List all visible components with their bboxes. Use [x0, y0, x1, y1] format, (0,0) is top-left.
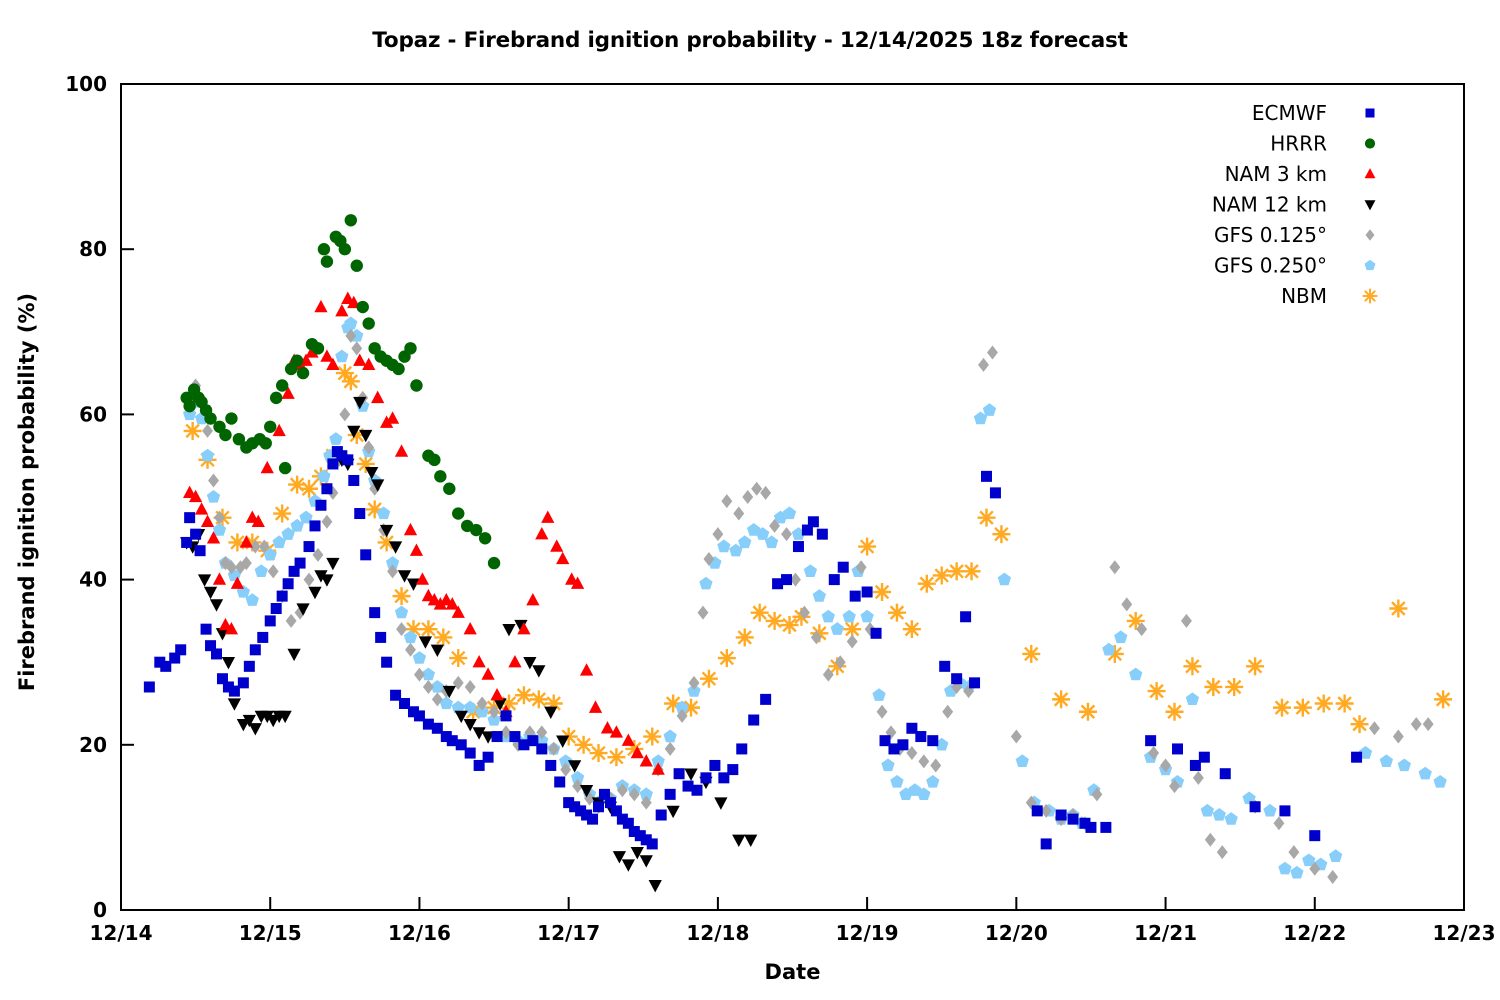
data-point-circle: [260, 437, 272, 449]
x-axis-tick-label: 12/23: [1433, 921, 1496, 945]
data-point-pentagon: [344, 317, 357, 330]
data-point-circle: [318, 243, 330, 255]
data-point-pentagon: [717, 540, 730, 553]
data-point-asterisk: [419, 620, 437, 638]
data-point-pentagon: [1290, 866, 1303, 879]
data-point-pentagon: [872, 688, 885, 701]
data-point-circle: [488, 557, 500, 569]
data-point-triangle-down: [210, 599, 223, 611]
data-point-circle: [345, 214, 357, 226]
data-point-pentagon: [1433, 775, 1446, 788]
data-point-circle: [443, 483, 455, 495]
data-point-square: [201, 624, 212, 635]
x-axis-tick-label: 12/22: [1283, 921, 1346, 945]
legend-marker-3: [1365, 168, 1376, 178]
data-point-diamond: [304, 573, 315, 587]
data-point-asterisk: [873, 583, 891, 601]
legend-label-7: NBM: [1281, 284, 1327, 308]
data-point-diamond: [1423, 717, 1434, 731]
data-point-triangle-up: [589, 700, 602, 712]
data-point-square: [175, 644, 186, 655]
data-point-square: [1145, 735, 1156, 746]
data-point-diamond: [1411, 717, 1422, 731]
data-point-circle: [321, 255, 333, 267]
x-axis-tick-label: 12/17: [537, 921, 600, 945]
data-point-triangle-up: [601, 721, 614, 733]
data-point-triangle-up: [353, 354, 366, 366]
data-point-diamond: [423, 680, 434, 694]
data-point-triangle-down: [714, 797, 727, 809]
y-axis-tick-label: 0: [93, 898, 107, 922]
data-point-diamond: [760, 486, 771, 500]
data-point-square: [238, 677, 249, 688]
data-point-diamond: [1393, 730, 1404, 744]
data-point-asterisk: [1079, 703, 1097, 721]
data-point-square: [381, 657, 392, 668]
data-point-asterisk: [643, 728, 661, 746]
data-point-square: [709, 760, 720, 771]
data-point-asterisk: [751, 604, 769, 622]
data-point-triangle-up: [526, 593, 539, 605]
data-point-pentagon: [1225, 812, 1238, 825]
data-point-square: [647, 838, 658, 849]
data-point-circle: [312, 342, 324, 354]
data-point-circle: [279, 462, 291, 474]
data-point-triangle-up: [508, 655, 521, 667]
data-point-square: [727, 764, 738, 775]
data-point-asterisk: [903, 620, 921, 638]
data-point-asterisk: [1148, 682, 1166, 700]
data-point-square: [211, 648, 222, 659]
data-point-asterisk: [933, 566, 951, 584]
data-point-square: [981, 471, 992, 482]
series-nbm: [184, 364, 1452, 766]
data-point-triangle-up: [580, 663, 593, 675]
data-point-square: [927, 735, 938, 746]
data-point-circle: [357, 301, 369, 313]
data-point-square: [1309, 830, 1320, 841]
data-point-diamond: [987, 345, 998, 359]
data-point-asterisk: [1183, 657, 1201, 675]
data-point-square: [1032, 805, 1043, 816]
data-point-triangle-up: [490, 688, 503, 700]
data-point-triangle-down: [649, 880, 662, 892]
data-point-pentagon: [207, 490, 220, 503]
data-point-asterisk: [1166, 703, 1184, 721]
data-point-triangle-down: [320, 574, 333, 586]
data-point-triangle-down: [249, 723, 262, 735]
data-point-diamond: [1288, 845, 1299, 859]
data-point-triangle-down: [287, 649, 300, 661]
data-point-square: [257, 632, 268, 643]
data-point-asterisk: [273, 505, 291, 523]
data-point-square: [829, 574, 840, 585]
data-point-pentagon: [1380, 754, 1393, 767]
data-point-pentagon: [1201, 804, 1214, 817]
data-point-triangle-down: [666, 806, 679, 818]
data-point-square: [1351, 752, 1362, 763]
data-point-asterisk: [342, 372, 360, 390]
data-point-asterisk: [781, 616, 799, 634]
series-hrrr: [180, 214, 500, 569]
data-point-diamond: [742, 490, 753, 504]
data-point-square: [838, 562, 849, 573]
data-point-square: [990, 487, 1001, 498]
data-point-asterisk: [1389, 600, 1407, 618]
data-point-square: [1199, 752, 1210, 763]
data-point-square: [465, 748, 476, 759]
data-point-pentagon: [1398, 758, 1411, 771]
data-point-diamond: [665, 742, 676, 756]
data-point-square: [781, 574, 792, 585]
legend-marker-6: [1365, 260, 1376, 270]
data-point-square: [691, 785, 702, 796]
legend-label-5: GFS 0.125°: [1214, 223, 1327, 247]
x-axis-tick-label: 12/16: [388, 921, 451, 945]
data-point-circle: [291, 355, 303, 367]
data-point-diamond: [1193, 771, 1204, 785]
data-point-pentagon: [998, 573, 1011, 586]
data-point-diamond: [351, 341, 362, 355]
data-point-diamond: [712, 527, 723, 541]
data-point-triangle-up: [395, 444, 408, 456]
data-point-asterisk: [434, 628, 452, 646]
data-point-diamond: [918, 754, 929, 768]
data-point-diamond: [321, 515, 332, 529]
data-point-circle: [351, 260, 363, 272]
data-point-pentagon: [317, 469, 330, 482]
data-point-pentagon: [822, 610, 835, 623]
data-point-triangle-up: [201, 515, 214, 527]
data-point-circle: [410, 379, 422, 391]
data-point-diamond: [414, 668, 425, 682]
data-point-diamond: [396, 622, 407, 636]
data-point-square: [951, 673, 962, 684]
data-point-circle: [428, 454, 440, 466]
data-point-square: [315, 500, 326, 511]
data-point-diamond: [286, 614, 297, 628]
data-point-square: [321, 483, 332, 494]
series-ecmwf: [144, 446, 1362, 849]
data-point-pentagon: [329, 432, 342, 445]
data-point-circle: [219, 429, 231, 441]
legend: ECMWFHRRRNAM 3 kmNAM 12 kmGFS 0.125°GFS …: [1212, 101, 1378, 308]
legend-marker-2: [1365, 138, 1375, 148]
data-point-pentagon: [201, 449, 214, 462]
data-point-triangle-down: [204, 587, 217, 599]
data-point-pentagon: [1186, 692, 1199, 705]
data-point-triangle-up: [371, 391, 384, 403]
data-point-asterisk: [1225, 678, 1243, 696]
data-point-circle: [339, 243, 351, 255]
data-point-circle: [297, 367, 309, 379]
data-point-square: [960, 611, 971, 622]
data-point-pentagon: [1129, 668, 1142, 681]
data-point-square: [554, 776, 565, 787]
data-point-triangle-up: [622, 733, 635, 745]
data-point-asterisk: [700, 670, 718, 688]
data-point-diamond: [930, 758, 941, 772]
data-point-diamond: [698, 606, 709, 620]
data-point-triangle-down: [419, 636, 432, 648]
x-axis-tick-label: 12/18: [686, 921, 749, 945]
data-point-triangle-down: [532, 665, 545, 677]
data-point-diamond: [1121, 597, 1132, 611]
data-point-square: [656, 810, 667, 821]
data-point-triangle-down: [684, 769, 697, 781]
data-point-square: [1172, 743, 1183, 754]
data-point-square: [309, 520, 320, 531]
y-axis-tick-label: 100: [65, 72, 107, 96]
legend-label-2: HRRR: [1270, 132, 1327, 156]
data-point-diamond: [208, 473, 219, 487]
data-point-pentagon: [1016, 754, 1029, 767]
data-point-asterisk: [184, 422, 202, 440]
data-point-square: [1220, 768, 1231, 779]
data-point-pentagon: [663, 730, 676, 743]
data-point-pentagon: [890, 775, 903, 788]
data-point-asterisk: [1052, 690, 1070, 708]
legend-label-3: NAM 3 km: [1225, 162, 1327, 186]
data-point-pentagon: [881, 758, 894, 771]
data-point-triangle-up: [550, 539, 563, 551]
data-point-pentagon: [983, 403, 996, 416]
legend-marker-5: [1366, 229, 1375, 240]
data-point-square: [190, 529, 201, 540]
data-point-triangle-up: [213, 572, 226, 584]
data-point-diamond: [781, 527, 792, 541]
data-point-square: [1100, 822, 1111, 833]
data-point-asterisk: [858, 538, 876, 556]
data-point-asterisk: [1294, 699, 1312, 717]
data-point-pentagon: [831, 622, 844, 635]
data-point-asterisk: [766, 612, 784, 630]
data-point-triangle-down: [198, 574, 211, 586]
data-point-triangle-down: [326, 558, 339, 570]
data-point-square: [304, 541, 315, 552]
legend-label-6: GFS 0.250°: [1214, 254, 1327, 278]
data-point-asterisk: [1273, 699, 1291, 717]
data-point-circle: [270, 392, 282, 404]
data-point-asterisk: [530, 690, 548, 708]
data-point-square: [1056, 810, 1067, 821]
data-point-pentagon: [804, 564, 817, 577]
data-point-pentagon: [1329, 849, 1342, 862]
data-point-diamond: [877, 705, 888, 719]
data-point-square: [817, 529, 828, 540]
data-point-square: [808, 516, 819, 527]
data-point-triangle-up: [481, 667, 494, 679]
data-point-asterisk: [575, 736, 593, 754]
data-point-square: [369, 607, 380, 618]
data-point-triangle-down: [502, 624, 515, 636]
data-point-circle: [276, 379, 288, 391]
data-point-square: [250, 644, 261, 655]
data-point-pentagon: [335, 350, 348, 363]
series-nam-3-km: [183, 292, 665, 775]
data-point-square: [295, 558, 306, 569]
x-axis-tick-label: 12/15: [239, 921, 302, 945]
data-point-asterisk: [736, 628, 754, 646]
data-point-asterisk: [607, 748, 625, 766]
data-point-asterisk: [963, 562, 981, 580]
data-point-diamond: [405, 643, 416, 657]
legend-marker-7: [1363, 289, 1378, 304]
data-point-asterisk: [1434, 690, 1452, 708]
data-point-square: [271, 603, 282, 614]
data-point-asterisk: [1351, 715, 1369, 733]
data-point-circle: [434, 470, 446, 482]
data-point-square: [144, 681, 155, 692]
data-point-diamond: [1327, 870, 1338, 884]
data-point-triangle-down: [732, 835, 745, 847]
data-point-square: [545, 760, 556, 771]
data-point-triangle-down: [640, 855, 653, 867]
data-point-square: [665, 789, 676, 800]
data-point-square: [593, 801, 604, 812]
data-point-square: [674, 768, 685, 779]
data-point-asterisk: [977, 509, 995, 527]
data-point-square: [587, 814, 598, 825]
data-point-asterisk: [1022, 645, 1040, 663]
data-point-diamond: [847, 635, 858, 649]
data-point-asterisk: [515, 686, 533, 704]
data-point-triangle-down: [744, 835, 757, 847]
data-point-square: [915, 731, 926, 742]
data-point-pentagon: [1419, 767, 1432, 780]
data-point-square: [1068, 814, 1079, 825]
data-point-triangle-up: [556, 552, 569, 564]
data-point-asterisk: [1246, 657, 1264, 675]
data-point-triangle-up: [195, 502, 208, 514]
y-axis-tick-label: 20: [79, 733, 107, 757]
data-point-diamond: [1369, 721, 1380, 735]
data-point-square: [748, 715, 759, 726]
data-point-diamond: [1217, 845, 1228, 859]
data-point-square: [871, 628, 882, 639]
data-point-square: [736, 743, 747, 754]
data-point-pentagon: [1278, 862, 1291, 875]
data-point-triangle-up: [314, 300, 327, 312]
data-point-square: [939, 661, 950, 672]
data-point-square: [360, 549, 371, 560]
data-point-circle: [225, 412, 237, 424]
data-point-diamond: [721, 494, 732, 508]
data-point-square: [500, 710, 511, 721]
data-point-diamond: [339, 407, 350, 421]
data-point-square: [195, 545, 206, 556]
data-point-square: [760, 694, 771, 705]
data-point-asterisk: [1315, 695, 1333, 713]
data-point-diamond: [1181, 614, 1192, 628]
y-axis-tick-label: 80: [79, 237, 107, 261]
data-point-circle: [479, 532, 491, 544]
data-point-triangle-down: [544, 707, 557, 719]
data-point-pentagon: [813, 589, 826, 602]
data-point-asterisk: [992, 525, 1010, 543]
y-axis-tick-label: 60: [79, 402, 107, 426]
data-point-square: [184, 512, 195, 523]
data-point-square: [700, 772, 711, 783]
x-axis-tick-label: 12/21: [1134, 921, 1197, 945]
y-axis-tick-label: 40: [79, 568, 107, 592]
data-point-triangle-down: [622, 859, 635, 871]
data-point-triangle-up: [473, 655, 486, 667]
data-point-circle: [264, 421, 276, 433]
data-point-diamond: [1274, 816, 1285, 830]
data-point-square: [342, 454, 353, 465]
data-point-triangle-down: [308, 587, 321, 599]
x-axis-tick-label: 12/19: [836, 921, 899, 945]
data-point-square: [850, 591, 861, 602]
chart-page: Topaz - Firebrand ignition probability -…: [0, 0, 1500, 1000]
data-point-triangle-down: [222, 657, 235, 669]
data-point-triangle-down: [431, 645, 444, 657]
data-point-diamond: [733, 507, 744, 521]
data-point-square: [969, 677, 980, 688]
data-point-asterisk: [1336, 695, 1354, 713]
data-point-diamond: [465, 680, 476, 694]
data-point-pentagon: [738, 535, 751, 548]
data-point-diamond: [268, 564, 279, 578]
data-point-pentagon: [926, 775, 939, 788]
data-point-triangle-up: [386, 411, 399, 423]
data-point-square: [277, 591, 288, 602]
data-point-circle: [404, 342, 416, 354]
data-point-square: [265, 615, 276, 626]
data-point-diamond: [942, 705, 953, 719]
data-point-asterisk: [1204, 678, 1222, 696]
data-point-diamond: [1109, 560, 1120, 574]
data-point-diamond: [202, 424, 213, 438]
data-point-asterisk: [888, 604, 906, 622]
data-point-diamond: [978, 358, 989, 372]
data-point-diamond: [751, 482, 762, 496]
data-point-square: [244, 661, 255, 672]
data-point-pentagon: [1263, 804, 1276, 817]
data-point-diamond: [1011, 730, 1022, 744]
data-point-square: [1041, 838, 1052, 849]
data-point-square: [492, 731, 503, 742]
data-point-triangle-up: [410, 543, 423, 555]
data-point-square: [793, 541, 804, 552]
data-point-asterisk: [393, 587, 411, 605]
data-point-asterisk: [590, 744, 608, 762]
data-point-triangle-up: [335, 304, 348, 316]
data-point-pentagon: [1213, 808, 1226, 821]
data-point-pentagon: [783, 507, 796, 520]
series-layer: [144, 214, 1452, 892]
data-point-square: [1250, 801, 1261, 812]
data-point-circle: [452, 507, 464, 519]
data-point-triangle-down: [228, 698, 241, 710]
data-point-circle: [392, 363, 404, 375]
data-point-square: [862, 586, 873, 597]
x-axis-tick-label: 12/20: [985, 921, 1048, 945]
x-axis-tick-label: 12/14: [90, 921, 153, 945]
data-point-triangle-up: [535, 527, 548, 539]
data-point-triangle-up: [404, 523, 417, 535]
data-point-diamond: [1205, 833, 1216, 847]
data-point-asterisk: [918, 575, 936, 593]
scatter-plot: 02040608010012/1412/1512/1612/1712/1812/…: [0, 0, 1500, 1000]
data-point-diamond: [823, 668, 834, 682]
data-point-pentagon: [1114, 630, 1127, 643]
data-point-pentagon: [843, 610, 856, 623]
data-point-square: [536, 743, 547, 754]
data-point-square: [1279, 805, 1290, 816]
data-point-square: [897, 739, 908, 750]
